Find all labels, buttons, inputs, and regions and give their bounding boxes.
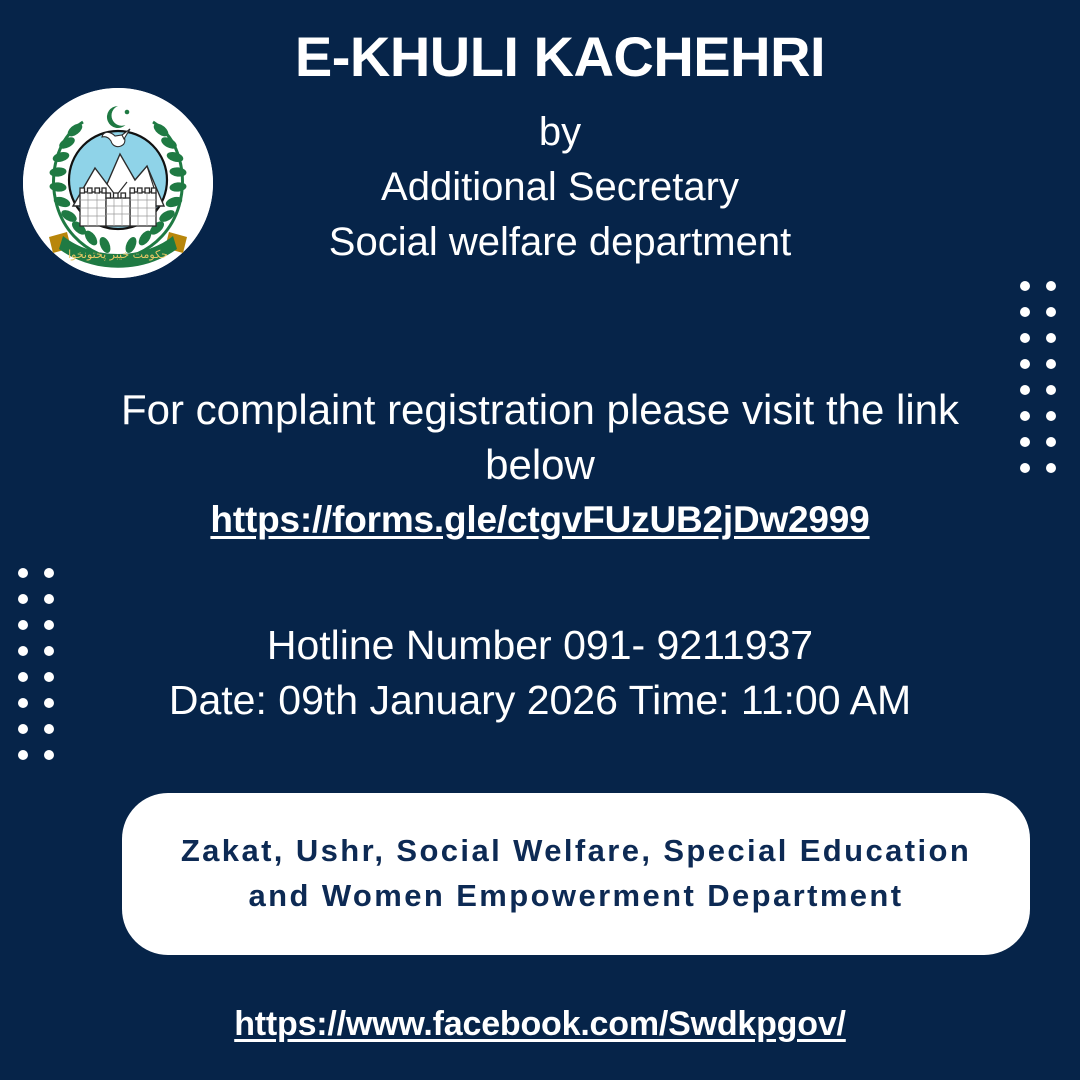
decorative-dot (1020, 385, 1030, 395)
decorative-dot (44, 750, 54, 760)
emblem-graphic: حکومت خیبر پختونخوا (23, 88, 213, 278)
decorative-dot (18, 750, 28, 760)
byline-line-role: Additional Secretary (230, 160, 890, 215)
decorative-dot (44, 620, 54, 630)
decorative-dot (1020, 463, 1030, 473)
complaint-form-link[interactable]: https://forms.gle/ctgvFUzUB2jDw2999 (210, 499, 869, 541)
decorative-dot (44, 594, 54, 604)
contact-block: Hotline Number 091- 9211937 Date: 09th J… (100, 618, 980, 727)
decorative-dot (1020, 333, 1030, 343)
decorative-dot (1046, 411, 1056, 421)
decorative-dot (1020, 307, 1030, 317)
byline-block: by Additional Secretary Social welfare d… (230, 105, 890, 271)
decorative-dot (44, 646, 54, 656)
byline-line-department: Social welfare department (230, 215, 890, 270)
government-emblem: حکومت خیبر پختونخوا (23, 88, 213, 278)
decorative-dot (44, 724, 54, 734)
decorative-dot (1046, 437, 1056, 447)
footer-block: https://www.facebook.com/Swdkpgov/ (0, 1005, 1080, 1044)
page-title: E-KHULI KACHEHRI (230, 28, 890, 87)
decorative-dot (1020, 437, 1030, 447)
date-time-line: Date: 09th January 2026 Time: 11:00 AM (100, 673, 980, 728)
byline-line-by: by (230, 105, 890, 160)
decorative-dot-grid-right (1020, 281, 1056, 473)
facebook-page-link[interactable]: https://www.facebook.com/Swdkpgov/ (234, 1005, 846, 1043)
decorative-dot (44, 698, 54, 708)
header-block: E-KHULI KACHEHRI by Additional Secretary… (230, 28, 890, 270)
decorative-dot (1046, 307, 1056, 317)
decorative-dot (1046, 385, 1056, 395)
decorative-dot (1020, 359, 1030, 369)
decorative-dot (18, 568, 28, 578)
decorative-dot (1020, 411, 1030, 421)
decorative-dot (1046, 463, 1056, 473)
department-name: Zakat, Ushr, Social Welfare, Special Edu… (148, 829, 1004, 919)
decorative-dot-grid-left (18, 568, 54, 760)
decorative-dot (18, 672, 28, 682)
complaint-block: For complaint registration please visit … (100, 382, 980, 541)
emblem-banner-text: حکومت خیبر پختونخوا (68, 248, 168, 261)
decorative-dot (18, 646, 28, 656)
poster-canvas: حکومت خیبر پختونخوا E-KHULI KACHEHRI by … (0, 0, 1080, 1080)
decorative-dot (18, 594, 28, 604)
department-card: Zakat, Ushr, Social Welfare, Special Edu… (122, 793, 1030, 955)
decorative-dot (44, 568, 54, 578)
decorative-dot (18, 698, 28, 708)
decorative-dot (18, 620, 28, 630)
decorative-dot (44, 672, 54, 682)
decorative-dot (1046, 359, 1056, 369)
decorative-dot (1046, 333, 1056, 343)
hotline-line: Hotline Number 091- 9211937 (100, 618, 980, 673)
decorative-dot (18, 724, 28, 734)
decorative-dot (1020, 281, 1030, 291)
decorative-dot (1046, 281, 1056, 291)
complaint-instruction: For complaint registration please visit … (100, 382, 980, 493)
